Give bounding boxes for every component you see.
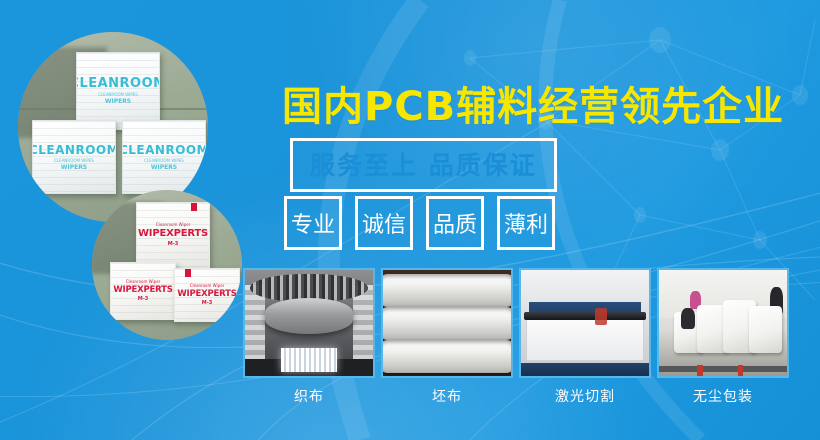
tag-integrity: 诚信 (355, 196, 413, 250)
wipexperts-bale: Cleanroom Wiper WIPEXPERTS M-3 (110, 262, 176, 320)
pack-brand-label: CLEANROOM (76, 77, 160, 90)
thumb-greige-fabric-caption: 坯布 (381, 386, 513, 406)
value-tag-list: 专业 诚信 品质 薄利 (284, 196, 555, 250)
bale-number: M-3 (202, 300, 213, 306)
bale-brand-label: WIPEXPERTS (138, 229, 208, 239)
thumb-weaving-image (243, 268, 375, 378)
thumb-weaving-caption: 织布 (243, 386, 375, 406)
subtitle-frame: 服务至上 品质保证 (290, 138, 557, 192)
bale-subline: Cleanroom Wiper (126, 280, 161, 284)
bale-subline: Cleanroom Wiper (190, 284, 225, 288)
thumb-weaving: 织布 (243, 268, 375, 406)
bale-number: M-3 (168, 241, 179, 247)
process-thumbnail-list: 织布 坯布 激光切割 (243, 268, 789, 406)
thumb-greige-fabric: 坯布 (381, 268, 513, 406)
pack-brand-label: CLEANROOM (32, 144, 116, 156)
pack-subline-1: CLEANROOM WIPES (144, 159, 184, 163)
pack-subline-2: WIPERS (151, 165, 177, 171)
pack-brand-label: CLEANROOM (122, 144, 206, 156)
pack-subline-2: WIPERS (61, 165, 87, 171)
wipexperts-bale: Cleanroom Wiper WIPEXPERTS M-3 (174, 268, 240, 322)
bale-brand-label: WIPEXPERTS (177, 290, 236, 299)
cleanroom-pack: CLEANROOM CLEANROOM WIPES WIPERS (32, 120, 116, 194)
wipexperts-bale: Cleanroom Wiper WIPEXPERTS M-3 (136, 202, 210, 268)
thumb-laser-cutting-caption: 激光切割 (519, 386, 651, 406)
bale-subline: Cleanroom Wiper (156, 223, 191, 227)
thumb-cleanroom-packaging: 无尘包装 (657, 268, 789, 406)
cleanroom-pack: CLEANROOM CLEANROOM WIPES WIPERS (76, 52, 160, 130)
banner-headline: 国内PCB辅料经营领先企业 (282, 74, 784, 132)
thumb-laser-cutting: 激光切割 (519, 268, 651, 406)
tag-professional: 专业 (284, 196, 342, 250)
bale-number: M-3 (138, 296, 149, 302)
pack-subline-1: CLEANROOM WIPES (54, 159, 94, 163)
bale-brand-label: WIPEXPERTS (113, 286, 172, 295)
wipexperts-bales-circle: Cleanroom Wiper WIPEXPERTS M-3 Cleanroom… (92, 190, 242, 340)
thumb-cleanroom-packaging-caption: 无尘包装 (657, 386, 789, 406)
pack-subline-2: WIPERS (105, 99, 131, 105)
thumb-laser-cutting-image (519, 268, 651, 378)
tag-quality: 品质 (426, 196, 484, 250)
cleanroom-pack: CLEANROOM CLEANROOM WIPES WIPERS (122, 120, 206, 194)
pack-subline-1: CLEANROOM WIPES (98, 93, 138, 97)
tag-low-margin: 薄利 (497, 196, 555, 250)
promo-banner: CLEANROOM CLEANROOM WIPES WIPERS CLEANRO… (0, 0, 820, 440)
thumb-greige-fabric-image (381, 268, 513, 378)
banner-subtitle: 服务至上 品质保证 (310, 146, 537, 182)
thumb-cleanroom-packaging-image (657, 268, 789, 378)
